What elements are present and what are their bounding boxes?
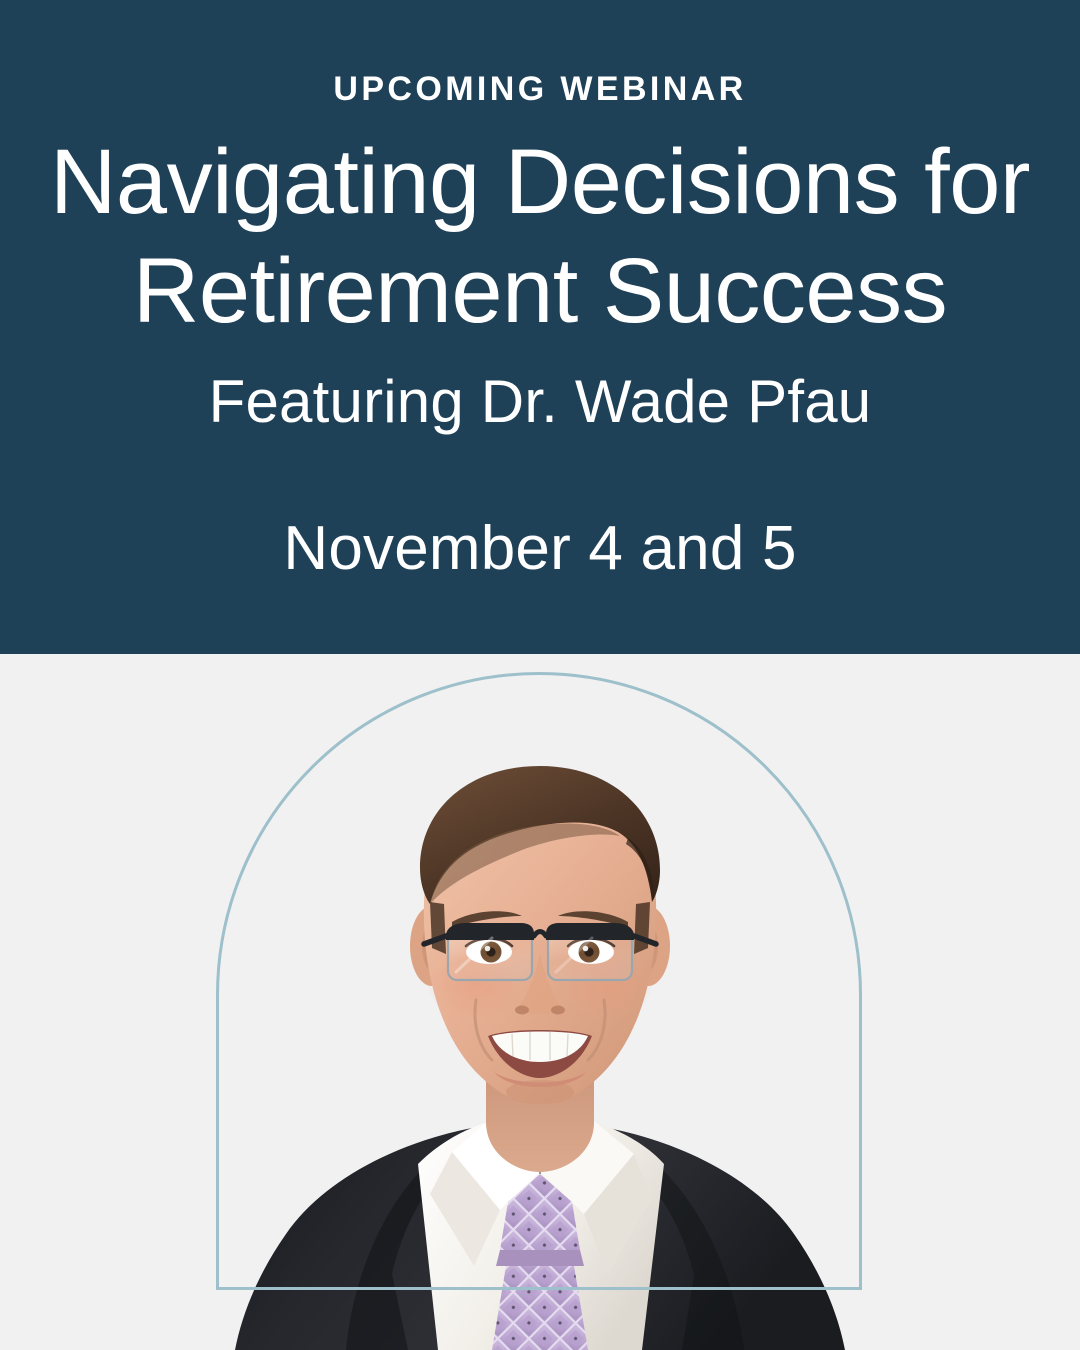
event-date-label: November 4 and 5 [0, 512, 1080, 586]
headline-line-2: Retirement Success [0, 237, 1080, 346]
headline-line-1: Navigating Decisions for [0, 128, 1080, 237]
portrait-panel [0, 654, 1080, 1350]
speaker-portrait-photo [0, 654, 1080, 1350]
hero-band: UPCOMING WEBINAR Navigating Decisions fo… [0, 0, 1080, 654]
webinar-promo-poster: UPCOMING WEBINAR Navigating Decisions fo… [0, 0, 1080, 1350]
featuring-speaker-label: Featuring Dr. Wade Pfau [0, 366, 1080, 438]
page-title: Navigating Decisions for Retirement Succ… [0, 128, 1080, 345]
eyebrow-label: UPCOMING WEBINAR [0, 72, 1080, 106]
